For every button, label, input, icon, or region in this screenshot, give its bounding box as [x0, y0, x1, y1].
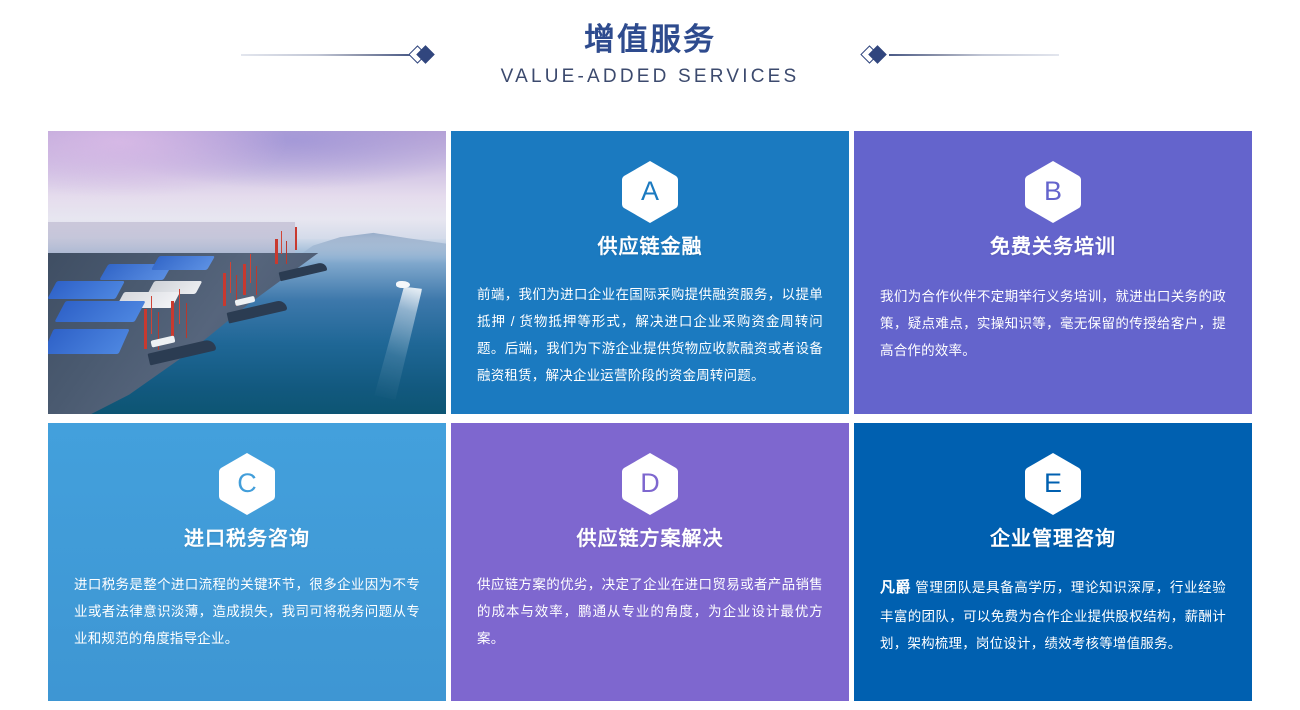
header-decoration-right	[863, 43, 1059, 67]
service-card-a[interactable]: A 供应链金融 前端，我们为进口企业在国际采购提供融资服务，以提单抵押 / 货物…	[451, 131, 849, 414]
slide-header: 增值服务 VALUE-ADDED SERVICES	[0, 0, 1300, 110]
badge-hexagon-c: C	[74, 423, 420, 516]
service-card-d[interactable]: D 供应链方案解决 供应链方案的优劣，决定了企业在进口贸易或者产品销售的成本与效…	[451, 423, 849, 701]
badge-hexagon-d: D	[477, 423, 823, 516]
photo-crane	[295, 227, 297, 250]
photo-crane	[275, 239, 278, 264]
service-card-e[interactable]: E 企业管理咨询 凡爵 管理团队是具备高学历，理论知识深厚，行业经验丰富的团队，…	[854, 423, 1252, 701]
card-title: 企业管理咨询	[880, 522, 1226, 551]
card-body: 前端，我们为进口企业在国际采购提供融资服务，以提单抵押 / 货物抵押等形式，解决…	[477, 281, 823, 389]
photo-warehouse	[48, 329, 129, 354]
card-title: 供应链金融	[477, 230, 823, 259]
card-title: 进口税务咨询	[74, 522, 420, 551]
card-body: 进口税务是整个进口流程的关键环节，很多企业因为不专业或者法律意识淡薄，造成损失，…	[74, 571, 420, 652]
diamond-icon-left	[411, 46, 437, 64]
header-title-block: 增值服务 VALUE-ADDED SERVICES	[497, 22, 804, 89]
slide-root: 增值服务 VALUE-ADDED SERVICES	[0, 0, 1300, 710]
hexagon-icon: A	[621, 160, 679, 224]
header-decoration-left	[241, 43, 437, 67]
photo-crane	[243, 264, 246, 295]
photo-warehouse	[48, 281, 125, 299]
decoration-line-right	[889, 54, 1059, 56]
hexagon-icon: E	[1024, 452, 1082, 516]
service-card-b[interactable]: B 免费关务培训 我们为合作伙伴不定期举行义务培训，就进出口关务的政策，疑点难点…	[854, 131, 1252, 414]
photo-warehouse	[151, 256, 215, 270]
photo-crane	[144, 309, 147, 349]
page-subtitle: VALUE-ADDED SERVICES	[501, 66, 800, 88]
hexagon-icon: D	[621, 452, 679, 516]
photo-crane	[223, 273, 226, 307]
badge-hexagon-e: E	[880, 423, 1226, 516]
port-photo	[48, 131, 446, 414]
photo-warehouse	[54, 301, 145, 322]
services-grid: A 供应链金融 前端，我们为进口企业在国际采购提供融资服务，以提单抵押 / 货物…	[48, 131, 1252, 701]
hexagon-icon: B	[1024, 160, 1082, 224]
service-card-c[interactable]: C 进口税务咨询 进口税务是整个进口流程的关键环节，很多企业因为不专业或者法律意…	[48, 423, 446, 701]
photo-crane	[171, 301, 174, 338]
card-body: 我们为合作伙伴不定期举行义务培训，就进出口关务的政策，疑点难点，实操知识等，毫无…	[880, 283, 1226, 364]
badge-hexagon-a: A	[477, 131, 823, 224]
card-title: 免费关务培训	[880, 230, 1226, 259]
card-body: 供应链方案的优劣，决定了企业在进口贸易或者产品销售的成本与效率，鹏通从专业的角度…	[477, 571, 823, 652]
card-title: 供应链方案解决	[477, 522, 823, 551]
page-title: 增值服务	[501, 22, 800, 58]
decoration-line-left	[241, 54, 411, 56]
hexagon-icon: C	[218, 452, 276, 516]
photo-boat	[396, 281, 410, 288]
diamond-icon-right	[863, 46, 889, 64]
card-body-text: 管理团队是具备高学历，理论知识深厚，行业经验丰富的团队，可以免费为合作企业提供股…	[880, 580, 1226, 651]
badge-hexagon-b: B	[880, 131, 1226, 224]
brand-name: 凡爵	[880, 579, 911, 596]
card-body: 凡爵 管理团队是具备高学历，理论知识深厚，行业经验丰富的团队，可以免费为合作企业…	[880, 573, 1226, 657]
